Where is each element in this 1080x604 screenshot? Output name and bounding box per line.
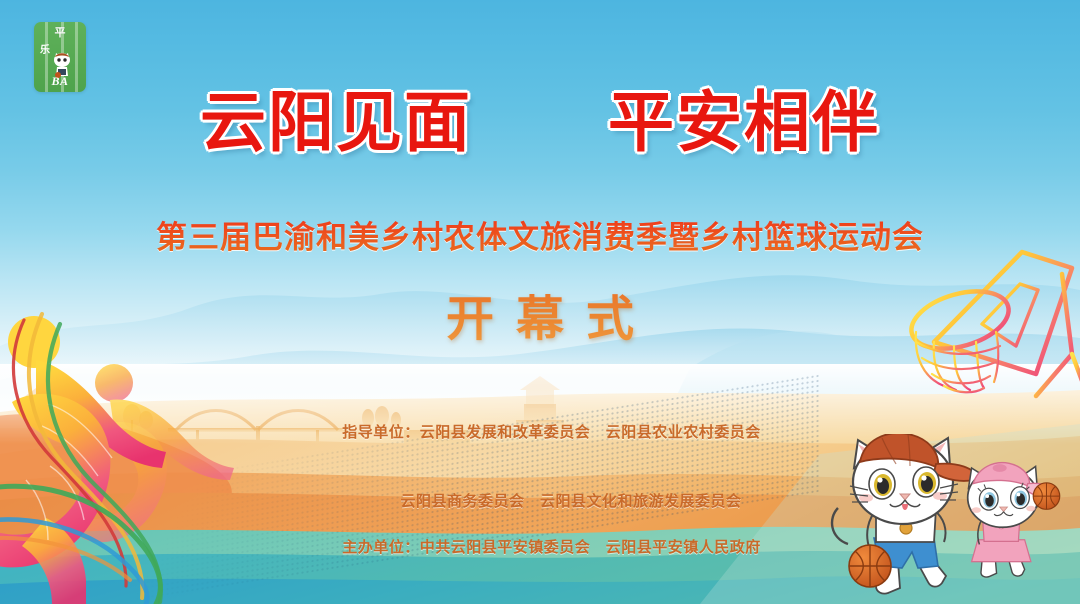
- organizer-line-2: 云阳县商务委员会 云阳县文化和旅游发展委员会: [0, 490, 1080, 513]
- poster-headline: 云阳见面 平安相伴: [0, 86, 1080, 160]
- event-logo[interactable]: 平 乐 BA: [34, 22, 86, 92]
- logo-char-top: 平: [34, 27, 86, 38]
- poster-subtitle: 第三届巴渝和美乡村农体文旅消费季暨乡村篮球运动会: [0, 218, 1080, 258]
- organizer-block: 指导单位：云阳县发展和改革委员会 云阳县农业农村委员会 云阳县商务委员会 云阳县…: [0, 398, 1080, 582]
- logo-char-mid: 乐: [40, 46, 50, 56]
- ceremony-title: 开幕式: [0, 290, 1080, 348]
- event-poster: 平 乐 BA 云阳见面 平安相伴 第三届巴渝和美乡村农体文旅消费季暨乡村篮球运动…: [0, 0, 1080, 604]
- organizer-line-3: 主办单位：中共云阳县平安镇委员会 云阳县平安镇人民政府: [342, 538, 761, 556]
- organizer-line-1: 指导单位：云阳县发展和改革委员会 云阳县农业农村委员会: [342, 423, 761, 441]
